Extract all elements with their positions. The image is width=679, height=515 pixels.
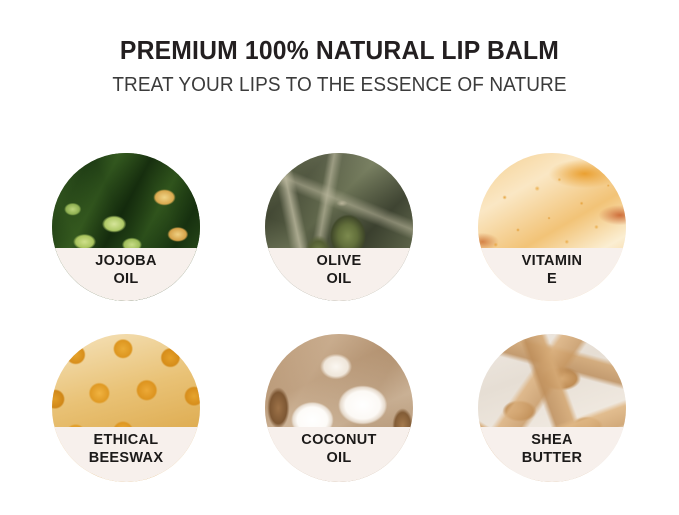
- ingredient-label-line-1: COCONUT: [301, 431, 376, 449]
- ingredient-circle: SHEA BUTTER: [478, 334, 626, 482]
- ingredient-grid: JOJOBA OIL OLIVE OIL: [0, 153, 679, 515]
- ingredient-row-top: JOJOBA OIL OLIVE OIL: [0, 153, 679, 301]
- ingredient-circle: ETHICAL BEESWAX: [52, 334, 200, 482]
- ingredient-label-line-1: VITAMIN: [522, 252, 583, 270]
- ingredient-card-olive-oil: OLIVE OIL: [265, 153, 413, 301]
- ingredient-circle: VITAMIN E: [478, 153, 626, 301]
- page-title: PREMIUM 100% NATURAL LIP BALM: [17, 36, 662, 65]
- ingredient-label: SHEA BUTTER: [478, 427, 626, 482]
- ingredient-card-jojoba-oil: JOJOBA OIL: [52, 153, 200, 301]
- ingredient-circle: OLIVE OIL: [265, 153, 413, 301]
- ingredient-label-line-1: OLIVE: [316, 252, 361, 270]
- ingredient-label: VITAMIN E: [478, 248, 626, 301]
- ingredient-label-line-2: E: [547, 270, 557, 288]
- ingredient-row-bottom: ETHICAL BEESWAX COCONUT OIL: [0, 334, 679, 482]
- ingredient-label-line-1: ETHICAL: [94, 431, 159, 449]
- ingredient-circle: JOJOBA OIL: [52, 153, 200, 301]
- page-subtitle: TREAT YOUR LIPS TO THE ESSENCE OF NATURE: [17, 74, 662, 96]
- ingredient-card-ethical-beeswax: ETHICAL BEESWAX: [52, 334, 200, 482]
- header: PREMIUM 100% NATURAL LIP BALM TREAT YOUR…: [0, 0, 679, 96]
- ingredient-label: OLIVE OIL: [265, 248, 413, 301]
- product-infographic: PREMIUM 100% NATURAL LIP BALM TREAT YOUR…: [0, 0, 679, 509]
- ingredient-card-vitamin-e: VITAMIN E: [478, 153, 626, 301]
- ingredient-circle: COCONUT OIL: [265, 334, 413, 482]
- ingredient-label-line-2: OIL: [113, 270, 138, 288]
- ingredient-label-line-2: OIL: [326, 270, 351, 288]
- ingredient-label-line-1: SHEA: [531, 431, 573, 449]
- ingredient-label-line-2: BEESWAX: [89, 449, 164, 467]
- ingredient-label-line-2: OIL: [326, 449, 351, 467]
- ingredient-label: COCONUT OIL: [265, 427, 413, 482]
- ingredient-label-line-1: JOJOBA: [95, 252, 156, 270]
- ingredient-label-line-2: BUTTER: [522, 449, 583, 467]
- ingredient-card-coconut-oil: COCONUT OIL: [265, 334, 413, 482]
- ingredient-label: ETHICAL BEESWAX: [52, 427, 200, 482]
- ingredient-label: JOJOBA OIL: [52, 248, 200, 301]
- ingredient-card-shea-butter: SHEA BUTTER: [478, 334, 626, 482]
